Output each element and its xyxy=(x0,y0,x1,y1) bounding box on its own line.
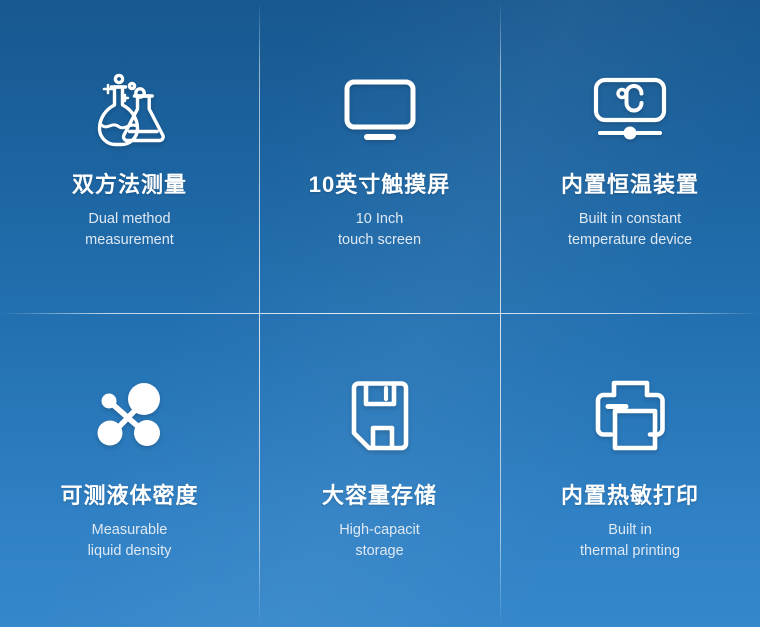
feature-title: 10英寸触摸屏 xyxy=(309,172,450,198)
feature-description-line1: High-capacit xyxy=(339,520,420,541)
printer-icon xyxy=(590,375,670,457)
molecule-icon xyxy=(90,375,170,457)
feature-cell-thermal-printing: 内置热敏打印 Built in thermal printing xyxy=(500,313,760,627)
feature-cell-dual-method: 双方法测量 Dual method measurement xyxy=(0,0,259,313)
feature-cell-constant-temperature: 内置恒温装置 Built in constant temperature dev… xyxy=(500,0,760,313)
feature-cell-touch-screen: 10英寸触摸屏 10 Inch touch screen xyxy=(259,0,500,313)
feature-title: 可测液体密度 xyxy=(60,483,198,509)
feature-description-line1: Built in constant xyxy=(568,209,692,230)
feature-description: High-capacit storage xyxy=(339,520,420,562)
feature-description-line2: storage xyxy=(339,541,420,562)
feature-description-line2: measurement xyxy=(85,230,174,251)
feature-description: Dual method measurement xyxy=(85,209,174,251)
feature-description-line1: Dual method xyxy=(85,209,174,230)
feature-title: 双方法测量 xyxy=(72,172,187,198)
feature-description-line2: temperature device xyxy=(568,230,692,251)
feature-title: 大容量存储 xyxy=(322,483,437,509)
feature-description-line2: thermal printing xyxy=(580,541,680,562)
feature-description-line1: Built in xyxy=(580,520,680,541)
temperature-display-icon xyxy=(584,68,676,150)
feature-grid: 双方法测量 Dual method measurement 10英寸触摸屏 10… xyxy=(0,0,760,627)
feature-cell-liquid-density: 可测液体密度 Measurable liquid density xyxy=(0,313,259,627)
feature-description: Built in constant temperature device xyxy=(568,209,692,251)
feature-title: 内置恒温装置 xyxy=(561,172,699,198)
feature-description: 10 Inch touch screen xyxy=(338,209,421,251)
feature-description-line2: liquid density xyxy=(88,541,172,562)
monitor-icon xyxy=(338,68,422,150)
feature-description: Built in thermal printing xyxy=(580,520,680,562)
floppy-disk-icon xyxy=(345,375,415,457)
feature-title: 内置热敏打印 xyxy=(561,483,699,509)
feature-description-line1: 10 Inch xyxy=(338,209,421,230)
feature-description: Measurable liquid density xyxy=(88,520,172,562)
feature-description-line1: Measurable xyxy=(88,520,172,541)
feature-cell-storage: 大容量存储 High-capacit storage xyxy=(259,313,500,627)
feature-description-line2: touch screen xyxy=(338,230,421,251)
flasks-icon xyxy=(88,68,172,150)
